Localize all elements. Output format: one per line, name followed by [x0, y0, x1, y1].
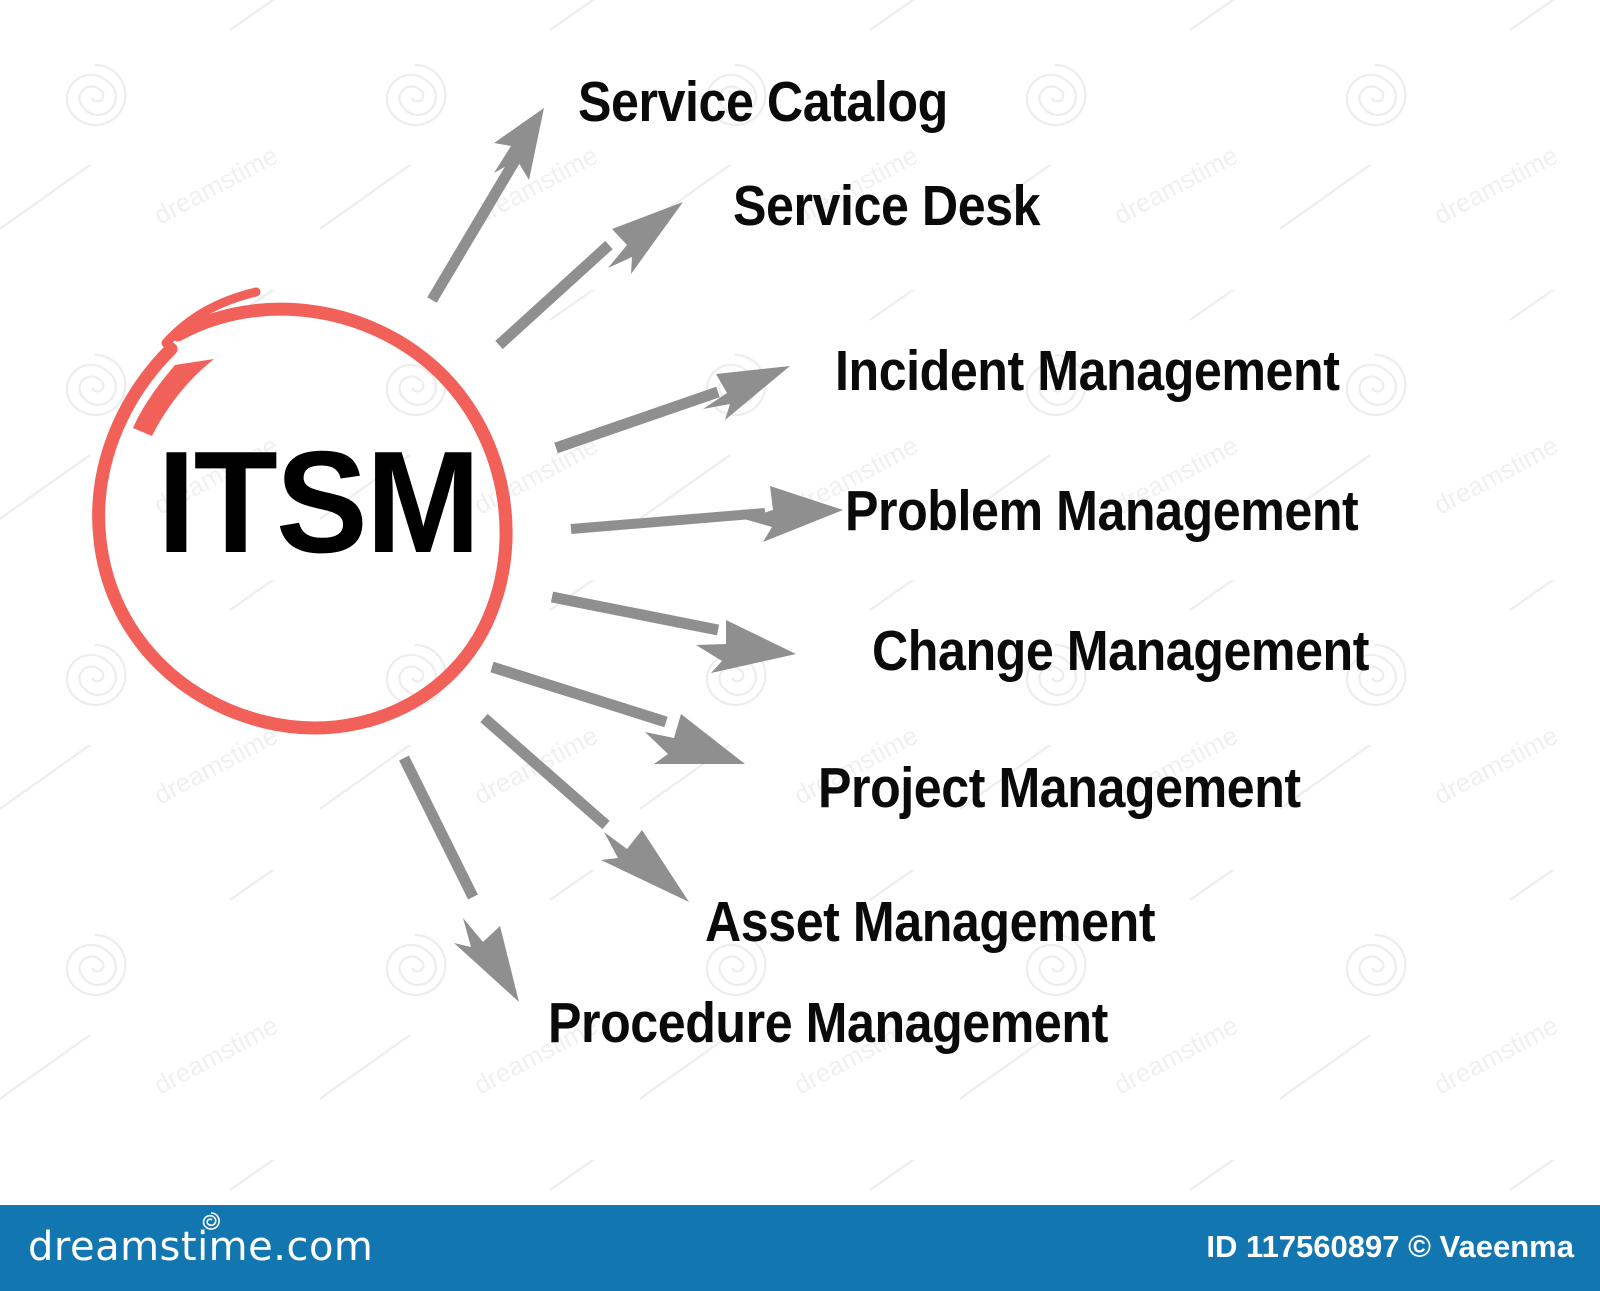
dreamstime-logo[interactable]: dreamstime.com	[28, 1227, 373, 1267]
branch-label-problem-management: Problem Management	[845, 483, 1358, 540]
diagram-body: dreamstime	[0, 0, 1600, 1205]
center-node-label: ITSM	[157, 430, 480, 575]
branch-label-procedure-management: Procedure Management	[548, 995, 1108, 1052]
spiral-icon	[201, 1211, 221, 1231]
stock-photo-footer: dreamstime.com ID 117560897 © Vaeenma	[0, 1205, 1600, 1291]
branch-label-service-desk: Service Desk	[733, 178, 1040, 235]
image-id-credit: ID 117560897 © Vaeenma	[1206, 1231, 1574, 1262]
branch-label-project-management: Project Management	[818, 760, 1301, 817]
branch-label-incident-management: Incident Management	[835, 343, 1339, 400]
diagram-canvas: dreamstime	[0, 0, 1600, 1291]
branch-label-change-management: Change Management	[872, 623, 1369, 680]
branch-label-asset-management: Asset Management	[705, 894, 1155, 951]
branch-label-service-catalog: Service Catalog	[578, 74, 948, 131]
